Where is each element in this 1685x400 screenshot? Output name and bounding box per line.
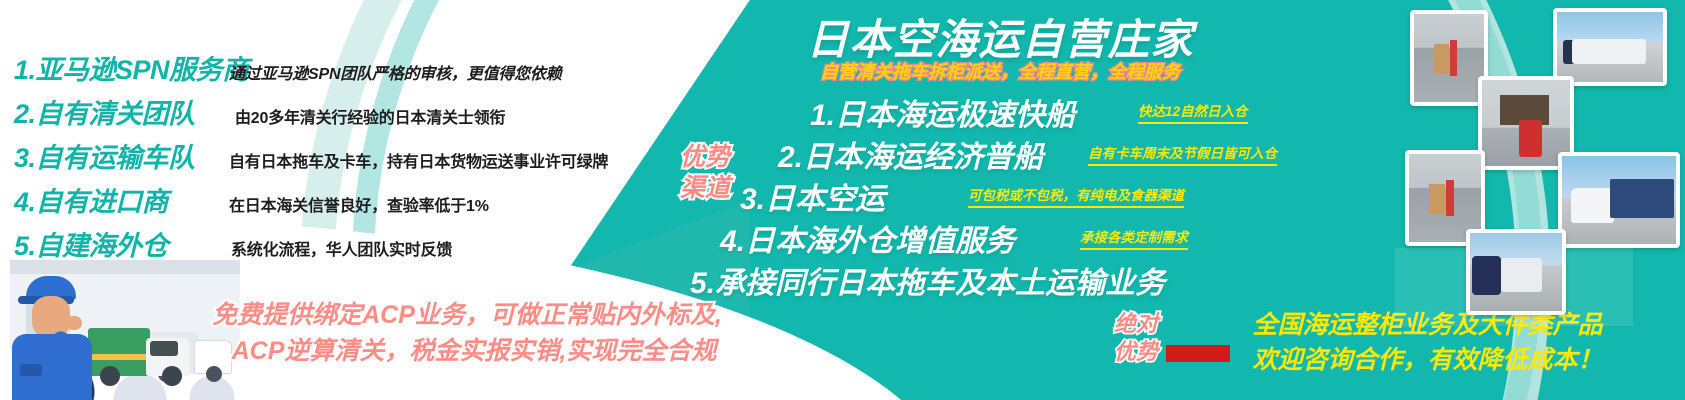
service-note: 自有卡车周末及节假日皆可入仓 <box>1088 142 1277 166</box>
feature-row: 2.自有清关团队 由20多年清关行经验的日本清关士领衔 <box>14 92 674 136</box>
blue-uniform-worker-graphic <box>4 272 100 400</box>
feature-title: 4.自有进口商 <box>14 180 229 219</box>
advantage-channel-stamp: 优势 渠道 <box>672 142 738 203</box>
feature-description: 系统化流程，华人团队实时反馈 <box>231 236 452 260</box>
photo-warehouse-pallet-handling <box>1410 10 1488 106</box>
feature-description: 通过亚马逊SPN团队严格的审核，更值得您依赖 <box>229 60 562 84</box>
left-feature-list: 1.亚马逊SPN服务商 通过亚马逊SPN团队严格的审核，更值得您依赖 2.自有清… <box>14 48 674 268</box>
feature-row: 3.自有运输车队 自有日本拖车及卡车，持有日本货物运送事业许可绿牌 <box>14 136 674 180</box>
photo-container-truck <box>1558 152 1680 248</box>
feature-title: 2.自有清关团队 <box>14 92 229 131</box>
service-title: 4.日本海外仓增值服务 <box>720 216 1015 260</box>
absolute-advantage-line1: 绝对 <box>1106 310 1166 338</box>
absolute-advantage-stamp: 绝对 优势 <box>1106 310 1166 366</box>
feature-row: 4.自有进口商 在日本海关信誉良好，查验率低于1% <box>14 180 674 224</box>
feature-description: 由20多年清关行经验的日本清关士领衔 <box>235 104 505 128</box>
service-title: 2.日本海运经济普船 <box>778 132 1043 176</box>
advantage-stamp-line2: 渠道 <box>672 173 738 204</box>
acp-promo-line1: 免费提供绑定ACP业务，可做正常贴内外标及, <box>212 301 722 329</box>
acp-promo-line2: ACP逆算清关，税金实报实销,实现完全合规 <box>186 334 762 370</box>
service-row: 3.日本空运 可包税或不包税，有纯电及食器渠道 <box>740 172 1340 214</box>
service-title: 1.日本海运极速快船 <box>810 90 1075 134</box>
acp-promo-text: 免费提供绑定ACP业务，可做正常贴内外标及, ACP逆算清关，税金实报实销,实现… <box>172 298 762 369</box>
promo-banner: 1.亚马逊SPN服务商 通过亚马逊SPN团队严格的审核，更值得您依赖 2.自有清… <box>0 0 1685 400</box>
service-title: 3.日本空运 <box>740 174 885 218</box>
feature-description: 在日本海关信誉良好，查验率低于1% <box>229 192 489 216</box>
service-note: 可包税或不包税，有纯电及食器渠道 <box>968 184 1184 208</box>
banner-subheadline: 自营清关拖车拆柜派送，全程直营，全程服务 <box>660 58 1340 84</box>
absolute-advantage-line2: 优势 <box>1106 338 1166 366</box>
photo-truck-fleet-yard <box>1553 8 1667 86</box>
redaction-bar <box>1166 345 1230 362</box>
photo-truck-row-parked <box>1466 229 1566 315</box>
service-list: 1.日本海运极速快船 快达12自然日入仓 2.日本海运经济普船 自有卡车周末及节… <box>740 88 1340 298</box>
advantage-stamp-line1: 优势 <box>672 142 738 173</box>
service-note: 快达12自然日入仓 <box>1138 100 1248 124</box>
service-note: 承接各类定制需求 <box>1080 226 1188 250</box>
feature-title: 1.亚马逊SPN服务商 <box>14 48 229 87</box>
feature-title: 3.自有运输车队 <box>14 136 229 175</box>
service-row: 5.承接同行日本拖车及本土运输业务 <box>740 256 1340 298</box>
feature-row: 1.亚马逊SPN服务商 通过亚马逊SPN团队严格的审核，更值得您依赖 <box>14 48 674 92</box>
service-row: 2.日本海运经济普船 自有卡车周末及节假日皆可入仓 <box>740 130 1340 172</box>
service-title: 5.承接同行日本拖车及本土运输业务 <box>690 258 1165 302</box>
feature-description: 自有日本拖车及卡车，持有日本货物运送事业许可绿牌 <box>229 148 608 172</box>
service-row: 1.日本海运极速快船 快达12自然日入仓 <box>740 88 1340 130</box>
nationwide-service-line2: 欢迎咨询合作，有效降低成本！ <box>1175 343 1680 378</box>
service-row: 4.日本海外仓增值服务 承接各类定制需求 <box>740 214 1340 256</box>
